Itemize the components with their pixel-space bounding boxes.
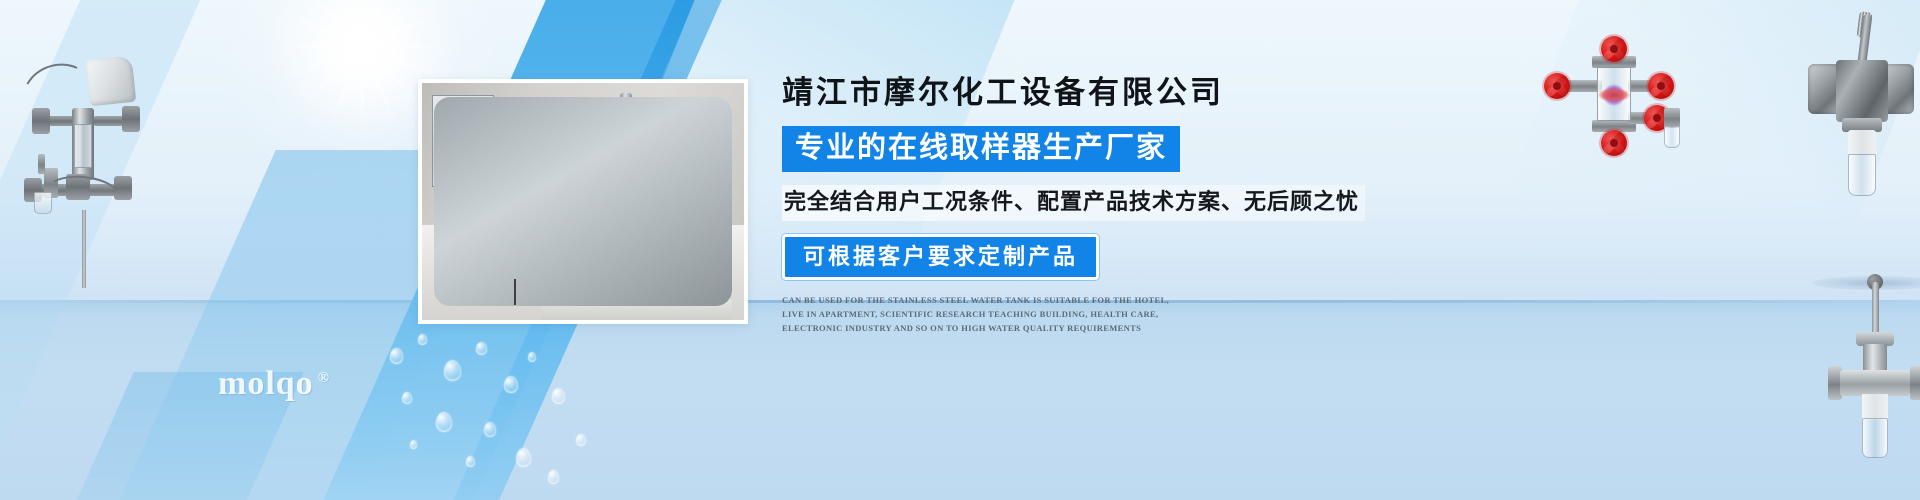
- fineprint-description: CAN BE USED FOR THE STAINLESS STEEL WATE…: [782, 294, 1186, 335]
- water-droplets-decor: [380, 330, 680, 500]
- watermark-text: molqo: [218, 365, 314, 402]
- left-equipment-illustration: [10, 50, 160, 300]
- brand-seal-icon: [1602, 84, 1626, 106]
- registered-mark-icon: ®: [318, 370, 330, 386]
- promo-banner: 靖江市摩尔化工设备有限公司 专业的在线取样器生产厂家 完全结合用户工况条件、配置…: [0, 0, 1920, 500]
- cross-sampler-illustration: [1540, 34, 1690, 154]
- subheadline-text: 完全结合用户工况条件、配置产品技术方案、无后顾之忧: [782, 185, 1365, 221]
- angle-valve-illustration: [1806, 26, 1916, 216]
- headline-badge: 专业的在线取样器生产厂家: [782, 126, 1180, 172]
- watermark-logo: molqo®: [218, 365, 330, 403]
- transmitter-head-icon: [86, 56, 137, 107]
- banner-copy: 靖江市摩尔化工设备有限公司 专业的在线取样器生产厂家 完全结合用户工况条件、配置…: [782, 74, 1422, 336]
- custom-product-cta-button[interactable]: 可根据客户要求定制产品: [782, 234, 1099, 281]
- product-photo: [422, 83, 744, 320]
- inline-sampler-illustration: [1822, 272, 1920, 472]
- company-name: 靖江市摩尔化工设备有限公司: [782, 74, 1422, 113]
- product-photo-card: [418, 79, 748, 324]
